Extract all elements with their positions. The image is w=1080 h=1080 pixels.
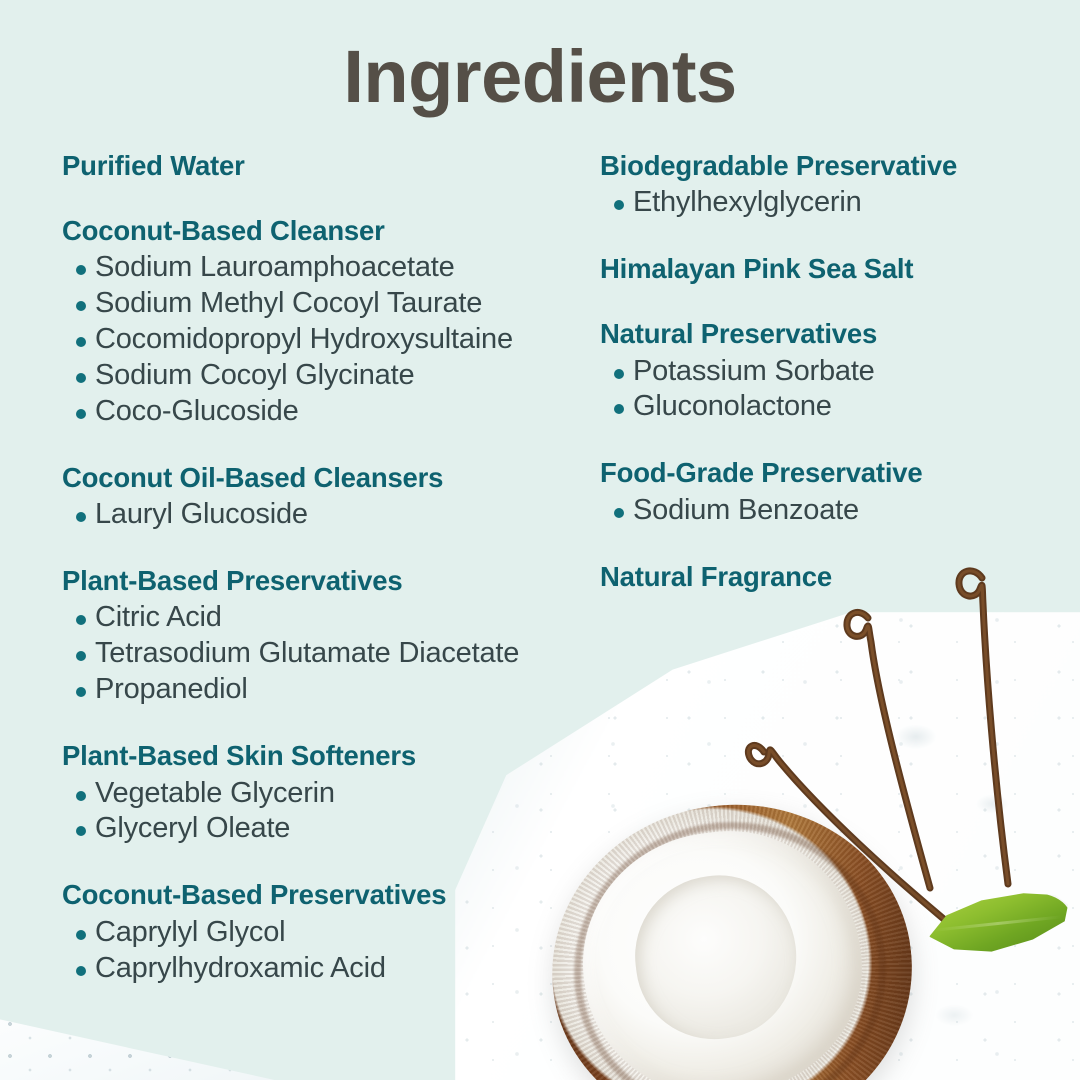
ingredient-list: Lauryl Glucoside bbox=[62, 497, 582, 533]
ingredient-group: Coconut-Based Preservatives Caprylyl Gly… bbox=[62, 877, 582, 986]
list-item: Sodium Cocoyl Glycinate bbox=[62, 358, 582, 394]
list-item: Sodium Benzoate bbox=[600, 493, 1060, 529]
ingredient-group-heading: Coconut-Based Cleanser bbox=[62, 213, 582, 248]
list-item: Coco-Glucoside bbox=[62, 394, 582, 430]
ingredient-list: Ethylhexylglycerin bbox=[600, 185, 1060, 221]
ingredient-group: Plant-Based Skin Softeners Vegetable Gly… bbox=[62, 738, 582, 847]
ingredient-group-heading: Biodegradable Preservative bbox=[600, 148, 1060, 183]
ingredients-columns: Purified Water Coconut-Based Cleanser So… bbox=[0, 148, 1080, 1068]
ingredient-group: Food-Grade Preservative Sodium Benzoate bbox=[600, 455, 1060, 528]
ingredient-group-heading: Plant-Based Skin Softeners bbox=[62, 738, 582, 773]
ingredient-group: Natural Preservatives Potassium Sorbate … bbox=[600, 316, 1060, 425]
list-item: Lauryl Glucoside bbox=[62, 497, 582, 533]
list-item: Caprylhydroxamic Acid bbox=[62, 951, 582, 987]
list-item: Gluconolactone bbox=[600, 389, 1060, 425]
ingredient-group-heading: Purified Water bbox=[62, 148, 582, 183]
ingredient-list: Sodium Benzoate bbox=[600, 493, 1060, 529]
ingredient-group-heading: Himalayan Pink Sea Salt bbox=[600, 251, 1060, 286]
ingredient-list: Sodium Lauroamphoacetate Sodium Methyl C… bbox=[62, 250, 582, 430]
ingredient-list: Potassium Sorbate Gluconolactone bbox=[600, 354, 1060, 426]
ingredient-group-heading: Coconut Oil-Based Cleansers bbox=[62, 460, 582, 495]
page-title: Ingredients bbox=[0, 38, 1080, 116]
list-item: Sodium Methyl Cocoyl Taurate bbox=[62, 286, 582, 322]
list-item: Glyceryl Oleate bbox=[62, 811, 582, 847]
ingredient-group: Coconut-Based Cleanser Sodium Lauroampho… bbox=[62, 213, 582, 430]
ingredient-list: Citric Acid Tetrasodium Glutamate Diacet… bbox=[62, 600, 582, 708]
list-item: Propanediol bbox=[62, 672, 582, 708]
ingredients-poster: Ingredients Purified Water Coconut-Based… bbox=[0, 0, 1080, 1080]
list-item: Potassium Sorbate bbox=[600, 354, 1060, 390]
list-item: Citric Acid bbox=[62, 600, 582, 636]
list-item: Tetrasodium Glutamate Diacetate bbox=[62, 636, 582, 672]
ingredients-column-left: Purified Water Coconut-Based Cleanser So… bbox=[62, 148, 582, 987]
ingredient-group: Himalayan Pink Sea Salt bbox=[600, 251, 1060, 286]
ingredient-group-heading: Plant-Based Preservatives bbox=[62, 563, 582, 598]
ingredient-group: Natural Fragrance bbox=[600, 559, 1060, 594]
ingredient-list: Caprylyl Glycol Caprylhydroxamic Acid bbox=[62, 915, 582, 987]
ingredient-group: Coconut Oil-Based Cleansers Lauryl Gluco… bbox=[62, 460, 582, 533]
ingredient-group-heading: Natural Preservatives bbox=[600, 316, 1060, 351]
ingredient-group-heading: Coconut-Based Preservatives bbox=[62, 877, 582, 912]
list-item: Caprylyl Glycol bbox=[62, 915, 582, 951]
ingredients-content: Ingredients Purified Water Coconut-Based… bbox=[0, 0, 1080, 1080]
list-item: Ethylhexylglycerin bbox=[600, 185, 1060, 221]
ingredient-group: Biodegradable Preservative Ethylhexylgly… bbox=[600, 148, 1060, 221]
ingredient-list: Vegetable Glycerin Glyceryl Oleate bbox=[62, 776, 582, 848]
list-item: Cocomidopropyl Hydroxysultaine bbox=[62, 322, 582, 358]
ingredient-group-heading: Food-Grade Preservative bbox=[600, 455, 1060, 490]
ingredient-group: Plant-Based Preservatives Citric Acid Te… bbox=[62, 563, 582, 708]
ingredient-group: Purified Water bbox=[62, 148, 582, 183]
list-item: Vegetable Glycerin bbox=[62, 776, 582, 812]
ingredient-group-heading: Natural Fragrance bbox=[600, 559, 1060, 594]
list-item: Sodium Lauroamphoacetate bbox=[62, 250, 582, 286]
ingredients-column-right: Biodegradable Preservative Ethylhexylgly… bbox=[600, 148, 1060, 596]
